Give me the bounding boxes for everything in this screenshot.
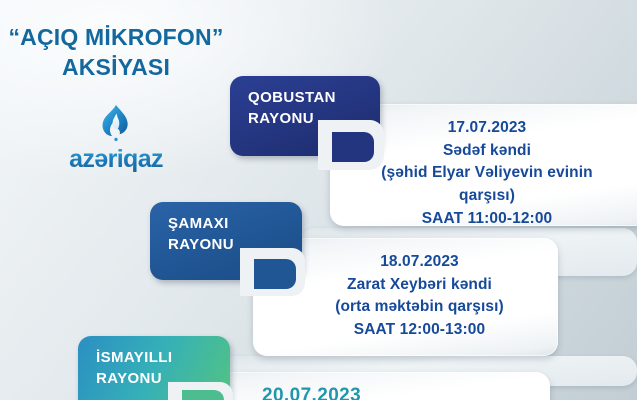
event-date: 17.07.2023 [344, 117, 630, 140]
poster-canvas: “AÇIQ MİKROFON” AKSİYASI azəriqaz [0, 0, 637, 400]
region-name-line-1: ŞAMAXI [168, 213, 302, 234]
headline-line-1: “AÇIQ MİKROFON” [8, 24, 223, 50]
region-badge-ismayilli: İSMAYILLI RAYONU [78, 336, 230, 400]
region-badge-samaxi: ŞAMAXI RAYONU [150, 202, 302, 280]
event-date: 18.07.2023 [293, 251, 546, 274]
brand-logo: azəriqaz [36, 104, 196, 174]
event-detail-cont: qarşısı) [344, 185, 630, 208]
event-place: Zarat Xeybəri kəndi [293, 274, 546, 297]
region-name-line-2: RAYONU [168, 234, 302, 255]
region-name-line-1: QOBUSTAN [248, 87, 380, 108]
page-title: “AÇIQ MİKROFON” AKSİYASI [0, 22, 232, 83]
event-detail: (şəhid Elyar Vəliyevin evinin [344, 162, 630, 185]
flame-icon [99, 104, 133, 142]
region-name-line-2: RAYONU [248, 108, 380, 129]
event-date: 20.07.2023 [262, 382, 550, 400]
event-detail: (orta məktəbin qarşısı) [293, 296, 546, 319]
brand-name: azəriqaz [36, 145, 196, 174]
region-name-line-1: İSMAYILLI [96, 347, 230, 368]
event-card-ismayilli: 20.07.2023 [180, 372, 550, 400]
event-time: SAAT 11:00-12:00 [344, 208, 630, 231]
headline-line-2: AKSİYASI [0, 52, 232, 82]
region-badge-qobustan: QOBUSTAN RAYONU [230, 76, 380, 156]
event-time: SAAT 12:00-13:00 [293, 319, 546, 342]
region-name-line-2: RAYONU [96, 368, 230, 389]
event-place: Sədəf kəndi [344, 140, 630, 163]
